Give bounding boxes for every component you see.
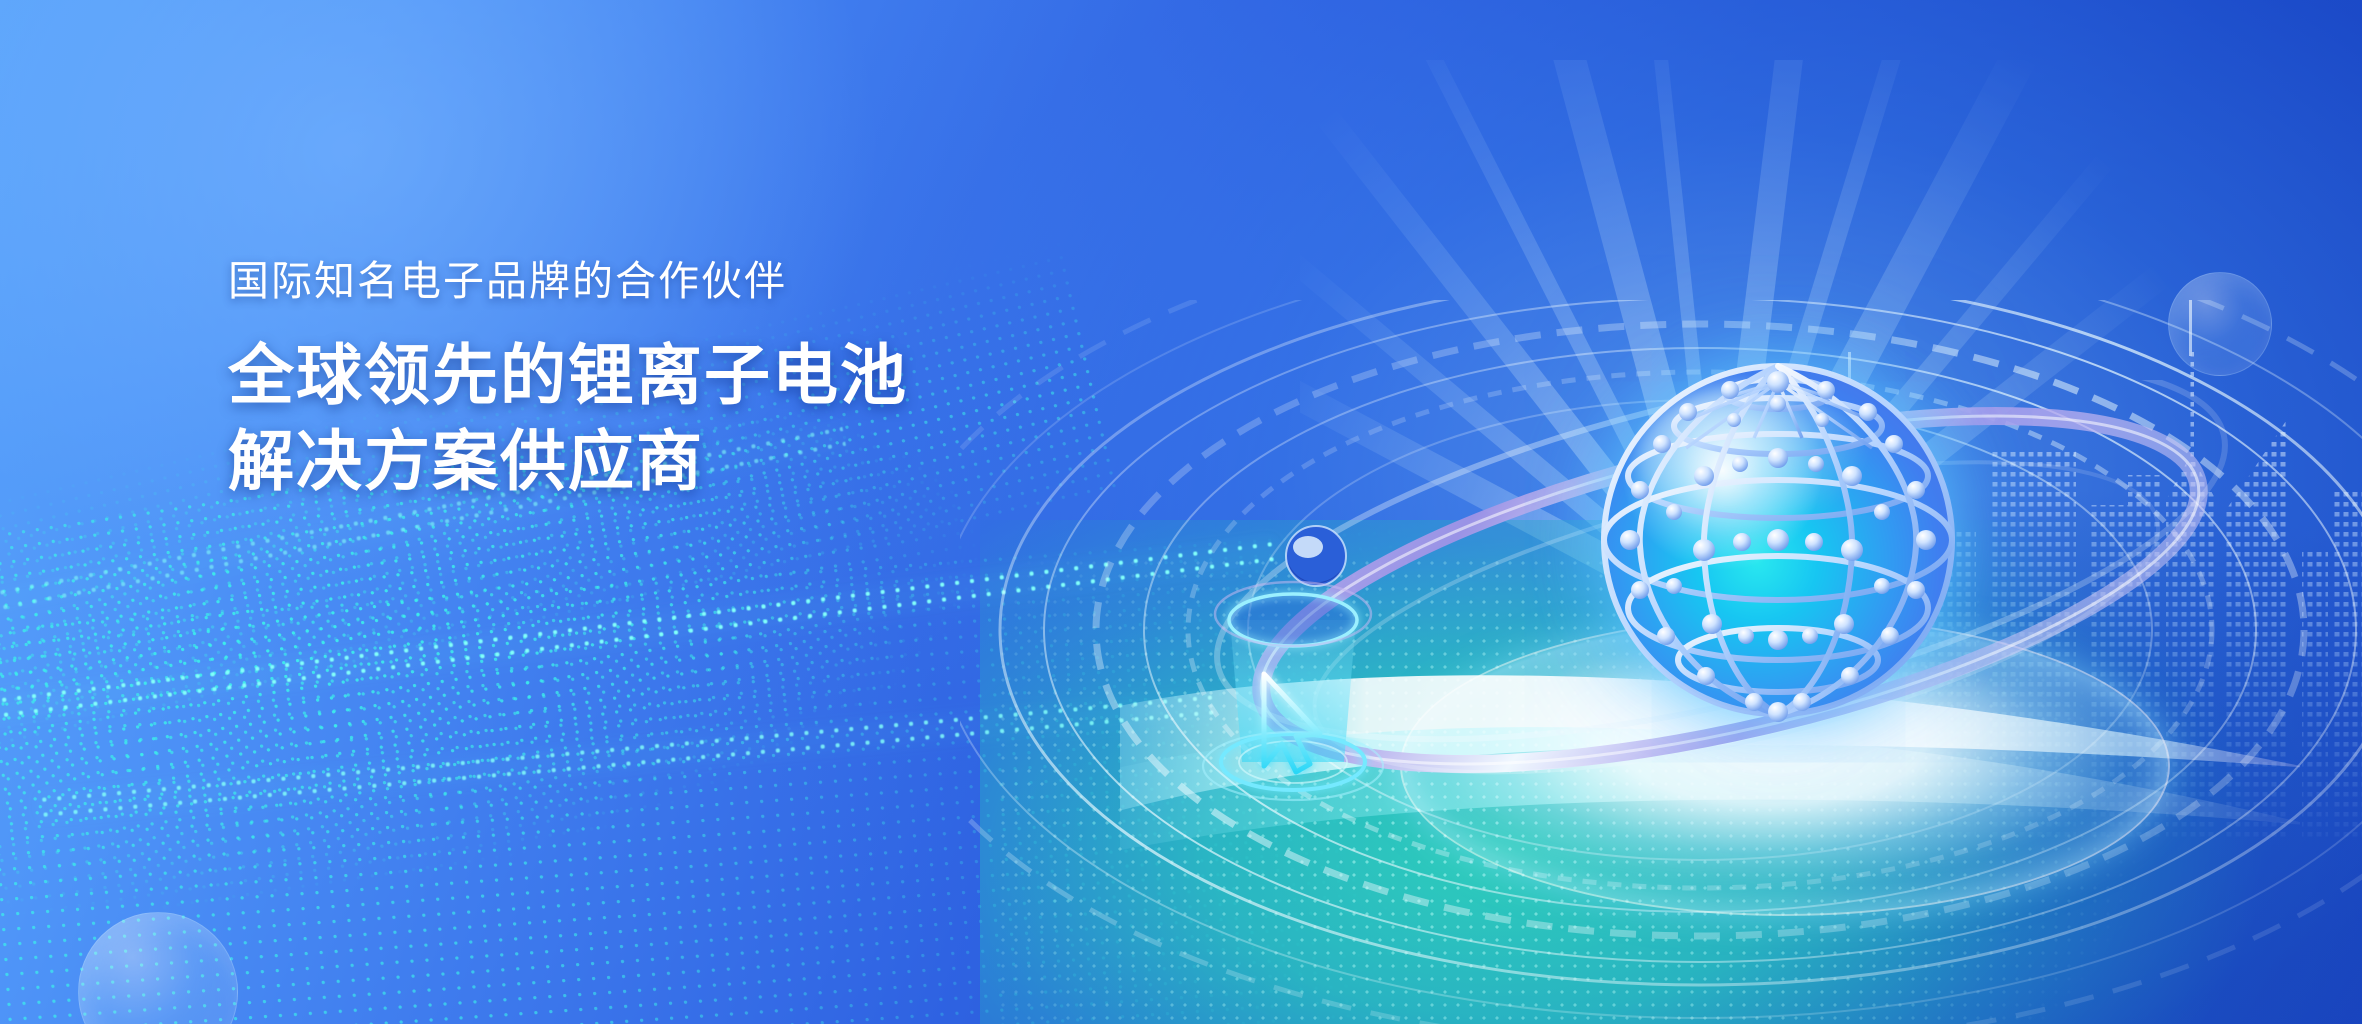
- bubble-icon: [2168, 272, 2272, 376]
- banner-headline-line-1: 全球领先的锂离子电池: [228, 333, 1128, 419]
- banner-headline-line-2: 解决方案供应商: [228, 419, 1128, 505]
- hero-banner: 国际知名电子品牌的合作伙伴 全球领先的锂离子电池 解决方案供应商: [0, 0, 2362, 1024]
- bubble-icon: [78, 912, 238, 1024]
- globe-mesh: [1578, 340, 1978, 740]
- hero-text-block: 国际知名电子品牌的合作伙伴 全球领先的锂离子电池 解决方案供应商: [228, 258, 1128, 505]
- banner-eyebrow: 国际知名电子品牌的合作伙伴: [228, 258, 1128, 305]
- dot-wave-crest: [40, 693, 1218, 822]
- dot-wave-crest: [0, 539, 1283, 726]
- wireframe-globe-icon: [1578, 340, 1978, 740]
- cursor-arrow-portal-icon: [1168, 566, 1418, 806]
